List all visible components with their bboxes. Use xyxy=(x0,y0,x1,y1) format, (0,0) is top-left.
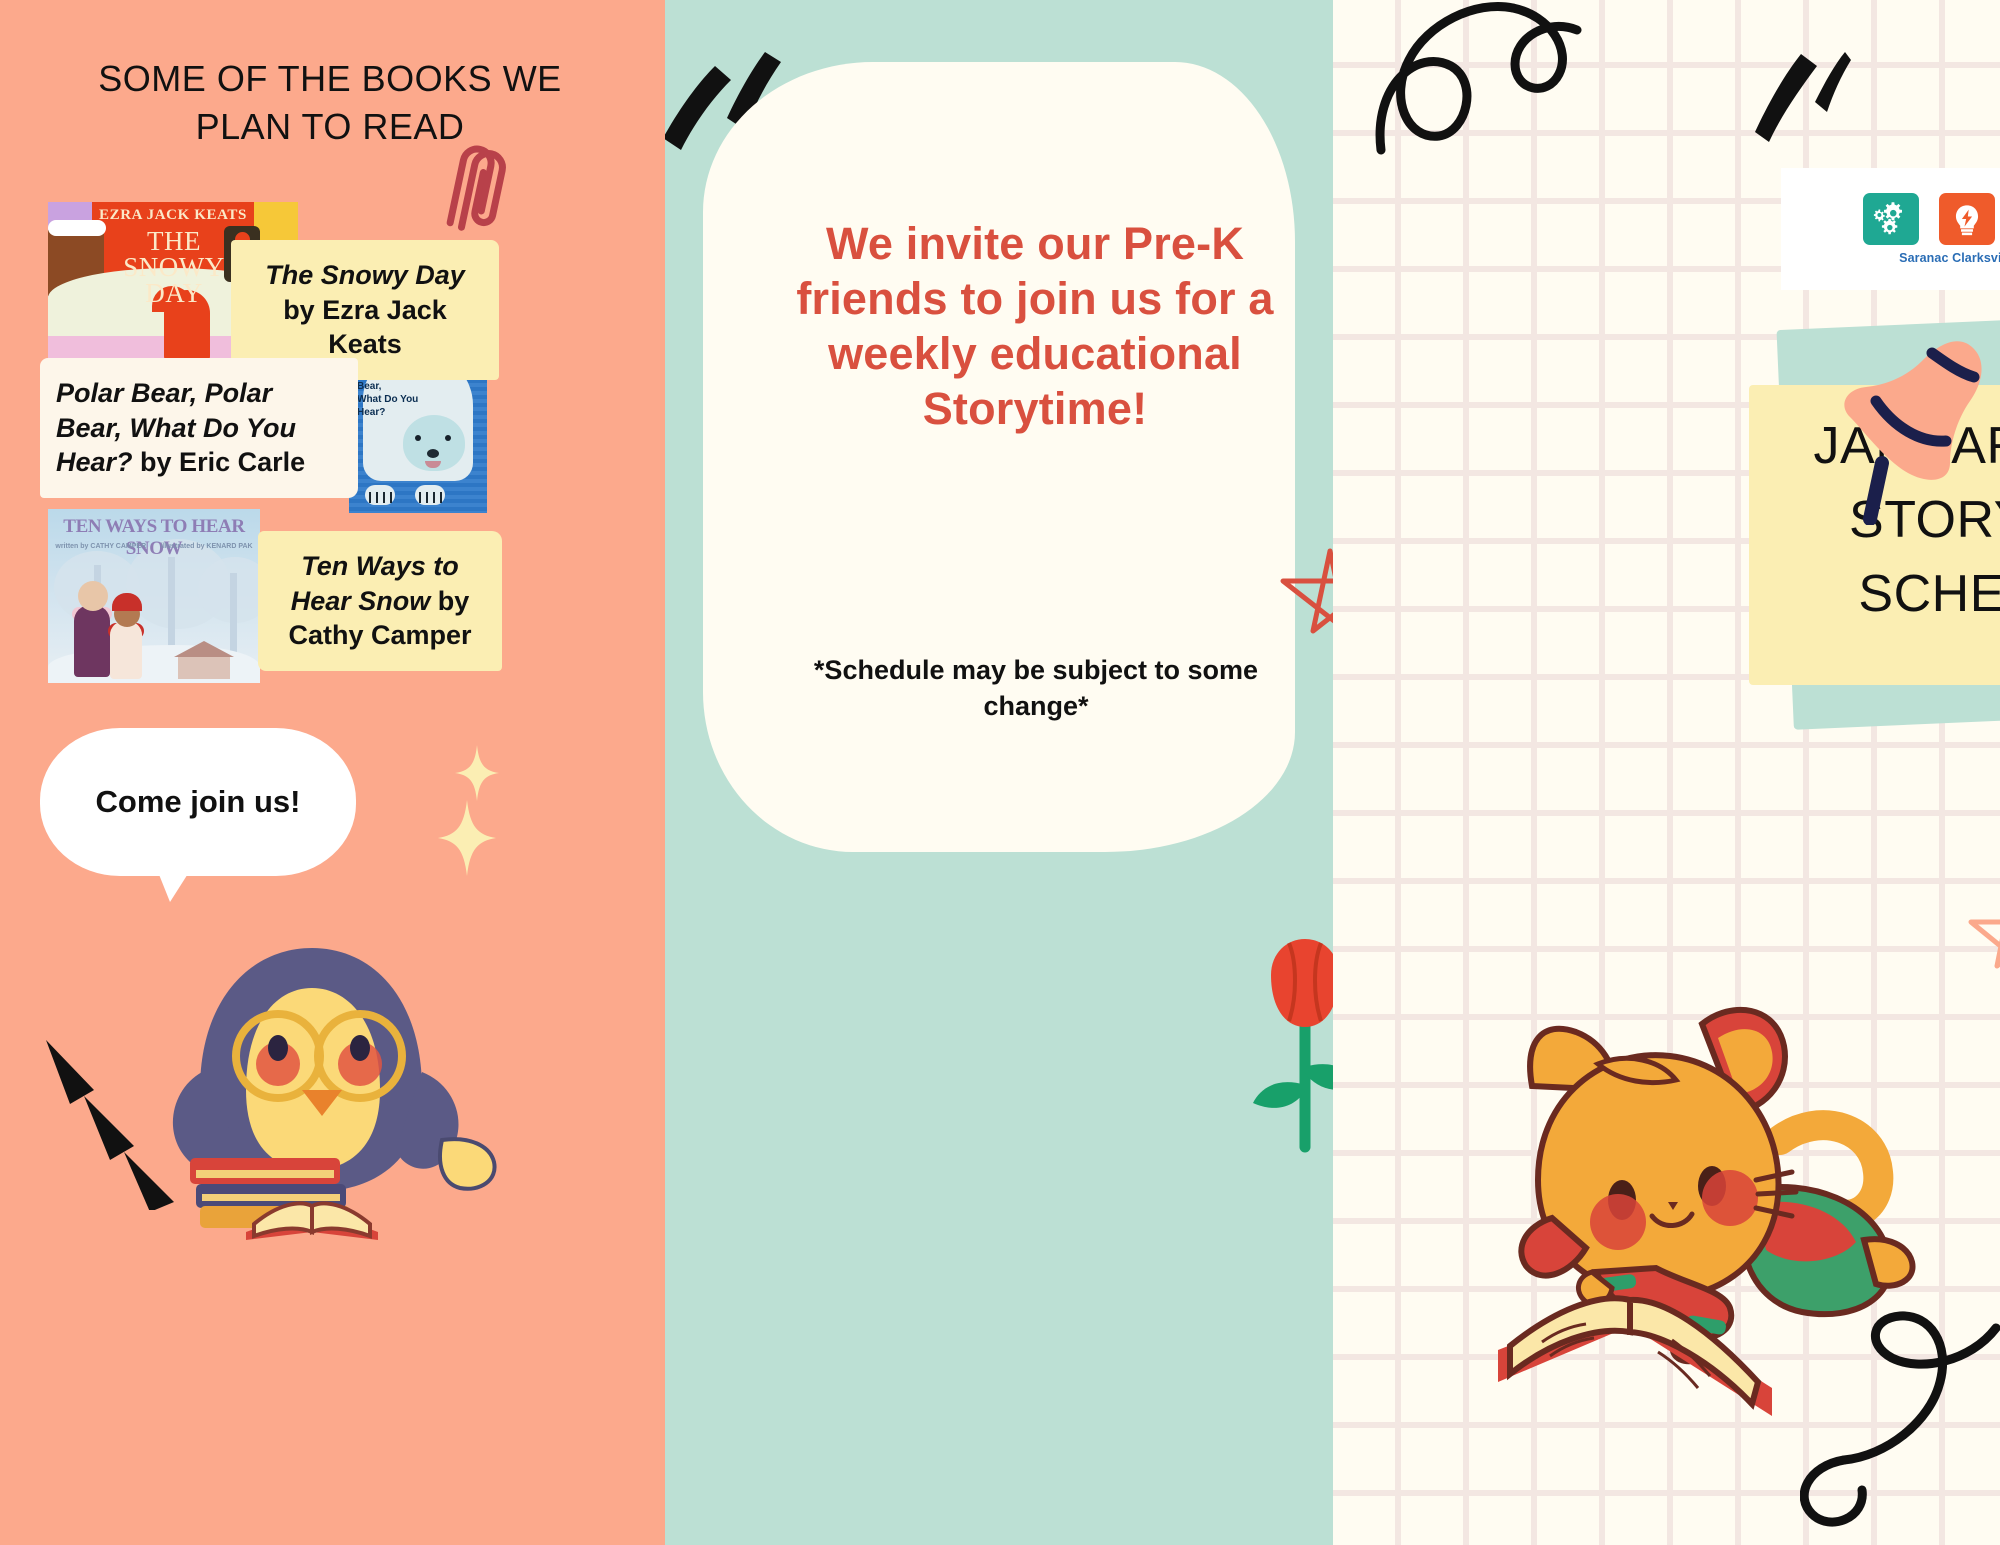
cover-title-text: THE SNOWY DAY xyxy=(94,228,254,307)
invite-card: We invite our Pre-K friends to join us f… xyxy=(703,62,1295,852)
invite-panel: We invite our Pre-K friends to join us f… xyxy=(665,0,1333,1545)
lightbulb-icon xyxy=(1939,193,1995,245)
loop-scribble-icon xyxy=(1363,0,1603,180)
cover-credits: written by CATHY CAMPER illustrated by K… xyxy=(48,543,260,550)
library-name: Saranac Clarksville District Library xyxy=(1899,251,2000,265)
book-cover-ten-ways-to-hear-snow: TEN WAYS TO HEAR SNOW written by CATHY C… xyxy=(48,509,260,683)
star-doodle-icon xyxy=(1275,545,1333,655)
tulip-illustration xyxy=(1245,935,1333,1155)
books-panel-heading: SOME OF THE BOOKS WE PLAN TO READ xyxy=(60,55,600,150)
books-panel: SOME OF THE BOOKS WE PLAN TO READ EZRA J… xyxy=(0,0,665,1545)
sparkle-icon xyxy=(455,745,499,801)
library-logo: SC DL Saranac Clarksville District Libra… xyxy=(1781,168,2000,290)
gears-icon xyxy=(1863,193,1919,245)
invite-disclaimer-text: *Schedule may be subject to some change* xyxy=(791,652,1281,725)
star-doodle-icon xyxy=(1963,890,2000,986)
book-label-polar-bear: Polar Bear, Polar Bear, What Do You Hear… xyxy=(40,358,358,498)
pushpin-icon xyxy=(1790,305,2000,525)
cover-title-text: TEN WAYS TO HEAR SNOW xyxy=(48,516,260,560)
motion-dashes-icon xyxy=(36,1030,186,1210)
speech-bubble-text: Come join us! xyxy=(96,781,301,823)
paperclip-icon xyxy=(441,135,518,241)
motion-dashes-icon xyxy=(1741,36,1851,146)
invite-main-text: We invite our Pre-K friends to join us f… xyxy=(775,217,1295,437)
book-label-ten-ways-to-hear-snow: Ten Ways to Hear Snow by Cathy Camper xyxy=(258,531,502,671)
cover-author-text: EZRA JACK KEATS xyxy=(48,207,298,224)
loop-scribble-icon xyxy=(1800,1310,2000,1545)
